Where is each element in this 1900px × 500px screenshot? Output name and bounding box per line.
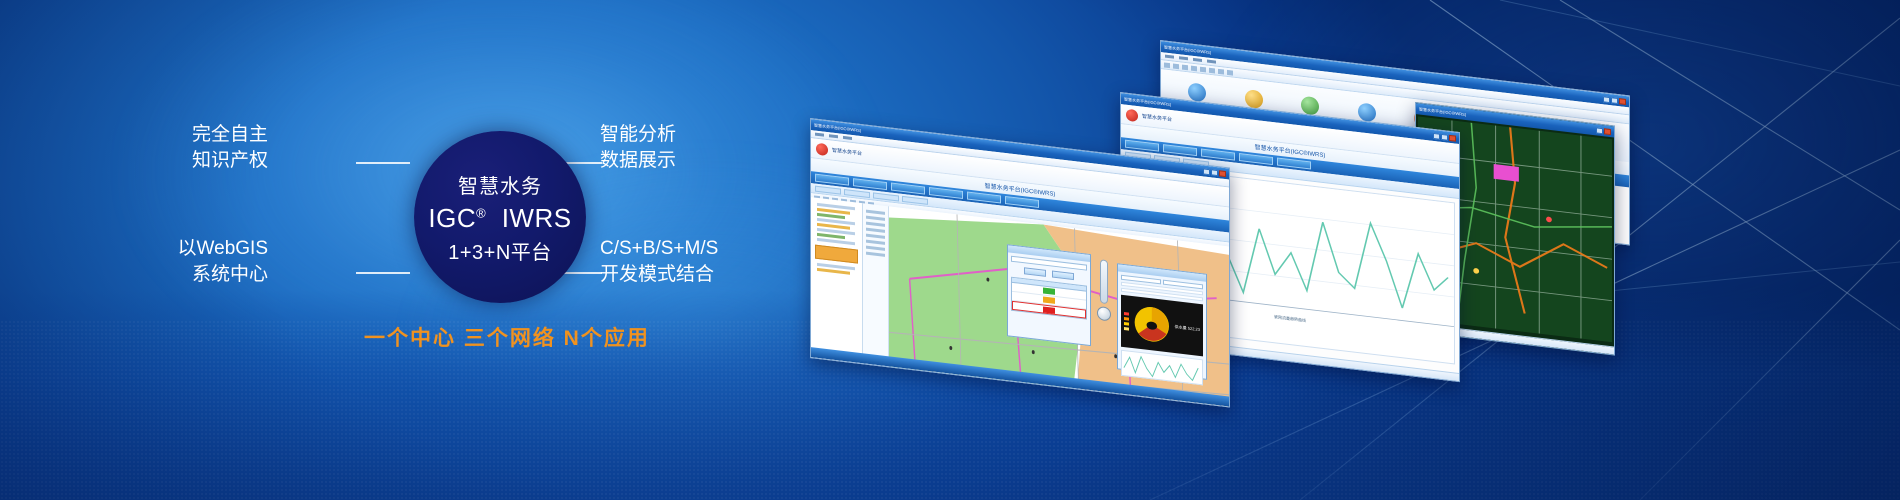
dialog-confirm-button[interactable] [1024,267,1046,277]
pie-legend [1124,312,1129,331]
application-windows-stack: 智慧水务平台(IGC®IWRS) [790,40,1900,370]
feature-line-2: 知识产权 [192,148,268,174]
brand-label: 智慧水务平台 [1142,113,1172,124]
hub-product-name: IGC® IWRS [428,203,571,234]
map-navigation-control[interactable] [1097,259,1111,322]
minimize-icon[interactable] [1603,96,1610,103]
pan-compass-icon[interactable] [1097,306,1111,322]
window-controls[interactable] [1603,96,1626,105]
feature-label-bottom-left: 以WebGIS 系统中心 [178,236,268,287]
legend-swatch [1124,317,1129,321]
window-title: 智慧水务平台(IGC®IWRS) [1419,106,1466,118]
map-tool[interactable] [866,234,885,239]
menu-item[interactable] [1165,55,1174,59]
close-icon[interactable] [1619,98,1626,105]
feature-label-top-left: 完全自主 知识产权 [192,122,268,173]
pie-chart-panel[interactable]: 供水量 522.23 [1121,295,1203,357]
menu-item[interactable] [815,133,824,137]
map-tool[interactable] [866,246,885,251]
menu-item[interactable] [829,134,838,138]
feature-label-top-right: 智能分析 数据展示 [600,122,676,173]
connector-dash-bottom-left [356,272,410,274]
legend-swatch [1124,322,1129,326]
app-window-front[interactable]: 智慧水务平台(IGC®IWRS) 智慧水务平台 智慧水务平台(IGC®IWRS) [810,118,1230,408]
toolbar-icon[interactable] [1227,69,1233,75]
dialog-cancel-button[interactable] [1052,271,1074,281]
map-tool[interactable] [866,222,885,227]
legend-swatch [1124,327,1129,331]
product-hub-circle: 智慧水务 IGC® IWRS 1+3+N平台 [414,131,586,303]
toolbar-icon[interactable] [1164,62,1170,68]
minimize-icon[interactable] [1596,127,1603,134]
feature-line-1: 智能分析 [600,122,676,148]
close-icon[interactable] [1604,128,1611,135]
hub-subtitle: 智慧水务 [458,170,542,199]
feature-line-1: 完全自主 [192,122,268,148]
status-badge [1043,306,1055,313]
legend-swatch [1124,312,1129,316]
menu-item[interactable] [1207,60,1216,64]
window-controls[interactable] [1433,132,1456,141]
minimize-icon[interactable] [1203,168,1210,175]
toolbar-icon[interactable] [1209,67,1215,73]
window-controls[interactable] [1596,127,1611,135]
minimize-icon[interactable] [1433,132,1440,139]
menu-item[interactable] [1193,58,1202,62]
map-tool[interactable] [866,228,885,233]
toolbar-icon[interactable] [1173,63,1179,69]
hub-platform-label: 1+3+N平台 [448,236,552,265]
menu-item[interactable] [1179,56,1188,60]
subnav-item[interactable] [902,195,928,204]
layer-tree-node[interactable] [817,238,855,245]
subnav-item[interactable] [873,192,899,201]
registered-mark-icon: ® [476,205,486,220]
subnav-item[interactable] [815,185,841,194]
feature-line-1: C/S+B/S+M/S [600,236,718,262]
hub-product-igc: IGC [428,203,476,233]
dialog-result-table[interactable] [1011,277,1087,320]
close-icon[interactable] [1219,170,1226,177]
maximize-icon[interactable] [1611,97,1618,104]
menu-item[interactable] [843,136,852,140]
window-controls[interactable] [1203,168,1226,177]
toolbar-icon[interactable] [1200,66,1206,72]
maximize-icon[interactable] [1211,169,1218,176]
company-logo-icon [816,142,828,155]
feature-line-2: 数据展示 [600,148,676,174]
mini-trend-chart[interactable] [1121,350,1203,386]
hub-product-iwrs: IWRS [502,203,572,233]
status-badge [1043,287,1055,294]
connector-dash-top-left [356,162,410,164]
toolbar-icon[interactable] [1218,68,1224,74]
toolbar-icon[interactable] [1182,64,1188,70]
feature-line-1: 以WebGIS [178,236,268,262]
feature-label-bottom-right: C/S+B/S+M/S 开发模式结合 [600,236,718,287]
feature-line-2: 开发模式结合 [600,262,718,288]
tagline: 一个中心 三个网络 N个应用 [364,322,650,352]
pie-value-label: 供水量 522.23 [1175,324,1200,333]
status-badge [1043,296,1055,303]
toolbar-icon[interactable] [1191,65,1197,71]
company-logo-icon [1126,108,1138,121]
map-tool[interactable] [866,210,885,215]
map-tool[interactable] [866,240,885,245]
brand-label: 智慧水务平台 [832,147,862,158]
realtime-analysis-dialog[interactable]: 供水量 522.23 [1117,263,1207,380]
banner-root: 完全自主 知识产权 以WebGIS 系统中心 智能分析 数据展示 C/S+B/S… [0,0,1900,500]
close-icon[interactable] [1449,134,1456,141]
map-tool[interactable] [866,216,885,221]
maximize-icon[interactable] [1441,133,1448,140]
infographic: 完全自主 知识产权 以WebGIS 系统中心 智能分析 数据展示 C/S+B/S… [0,0,820,500]
map-tool[interactable] [866,252,885,257]
burst-analysis-dialog[interactable] [1007,244,1091,346]
legend-swatch [815,245,858,264]
subnav-item[interactable] [844,189,870,198]
feature-line-2: 系统中心 [178,262,268,288]
zoom-slider[interactable] [1100,259,1108,304]
